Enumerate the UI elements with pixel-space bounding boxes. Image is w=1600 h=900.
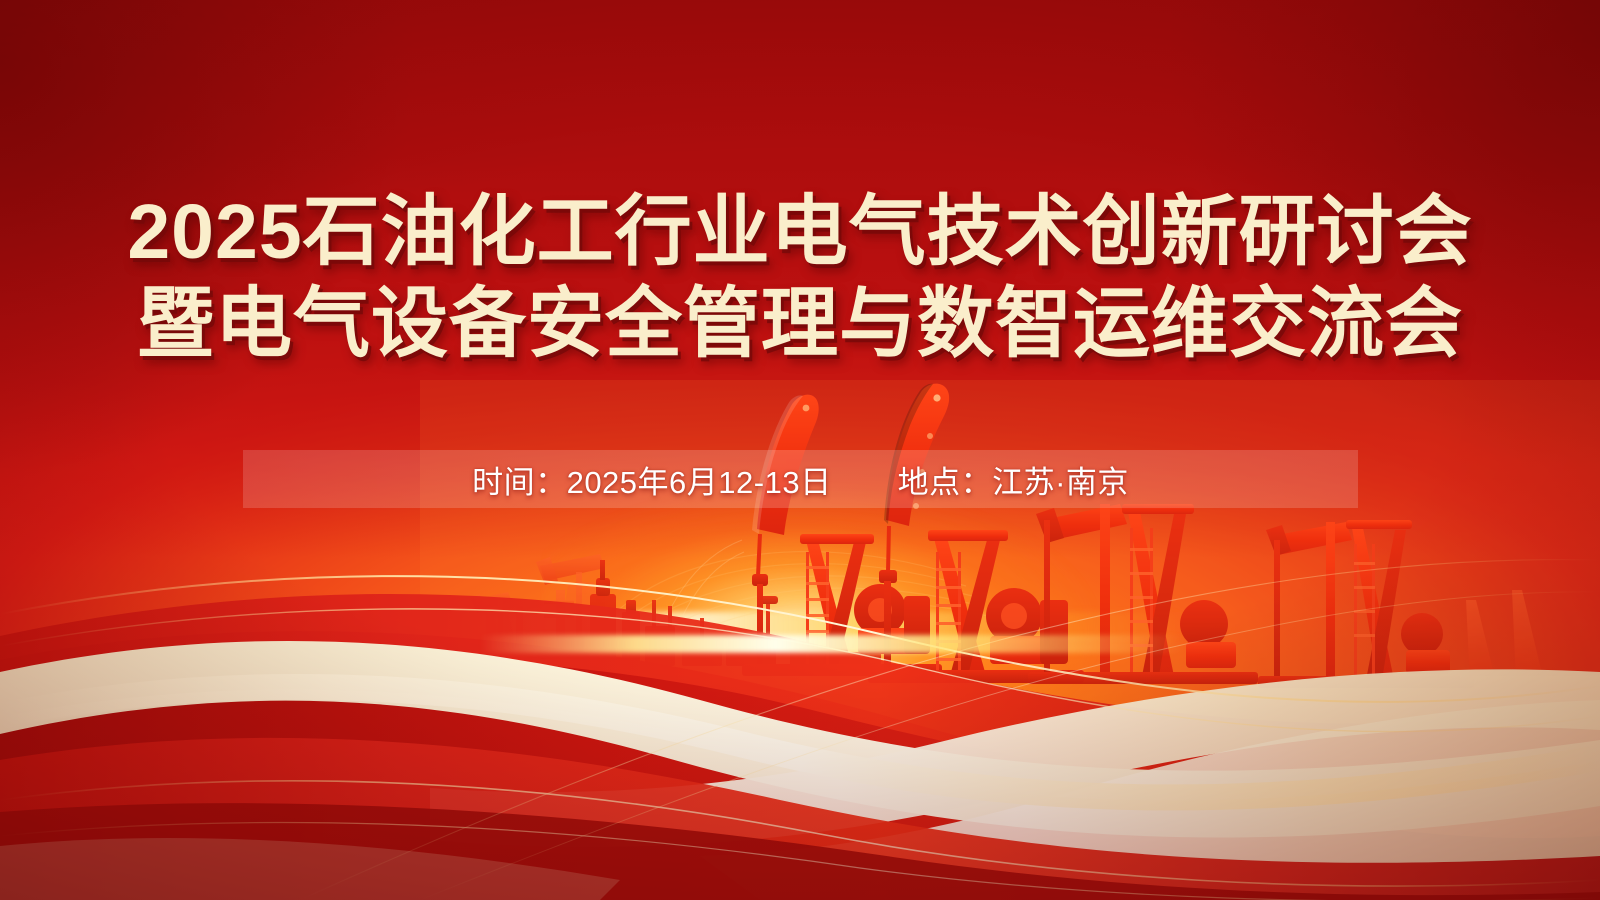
event-date: 时间：2025年6月12-13日	[472, 457, 832, 502]
title-line-1: 2025石油化工行业电气技术创新研讨会	[40, 186, 1560, 278]
poster-title: 2025石油化工行业电气技术创新研讨会 暨电气设备安全管理与数智运维交流会	[0, 186, 1600, 370]
event-location: 地点：江苏·南京	[898, 457, 1129, 502]
title-line-2: 暨电气设备安全管理与数智运维交流会	[40, 278, 1560, 370]
refinery-light-band	[480, 635, 1184, 653]
poster-banner: 2025石油化工行业电气技术创新研讨会 暨电气设备安全管理与数智运维交流会 时间…	[0, 0, 1600, 900]
event-info-bar: 时间：2025年6月12-13日 地点：江苏·南京	[243, 450, 1358, 508]
